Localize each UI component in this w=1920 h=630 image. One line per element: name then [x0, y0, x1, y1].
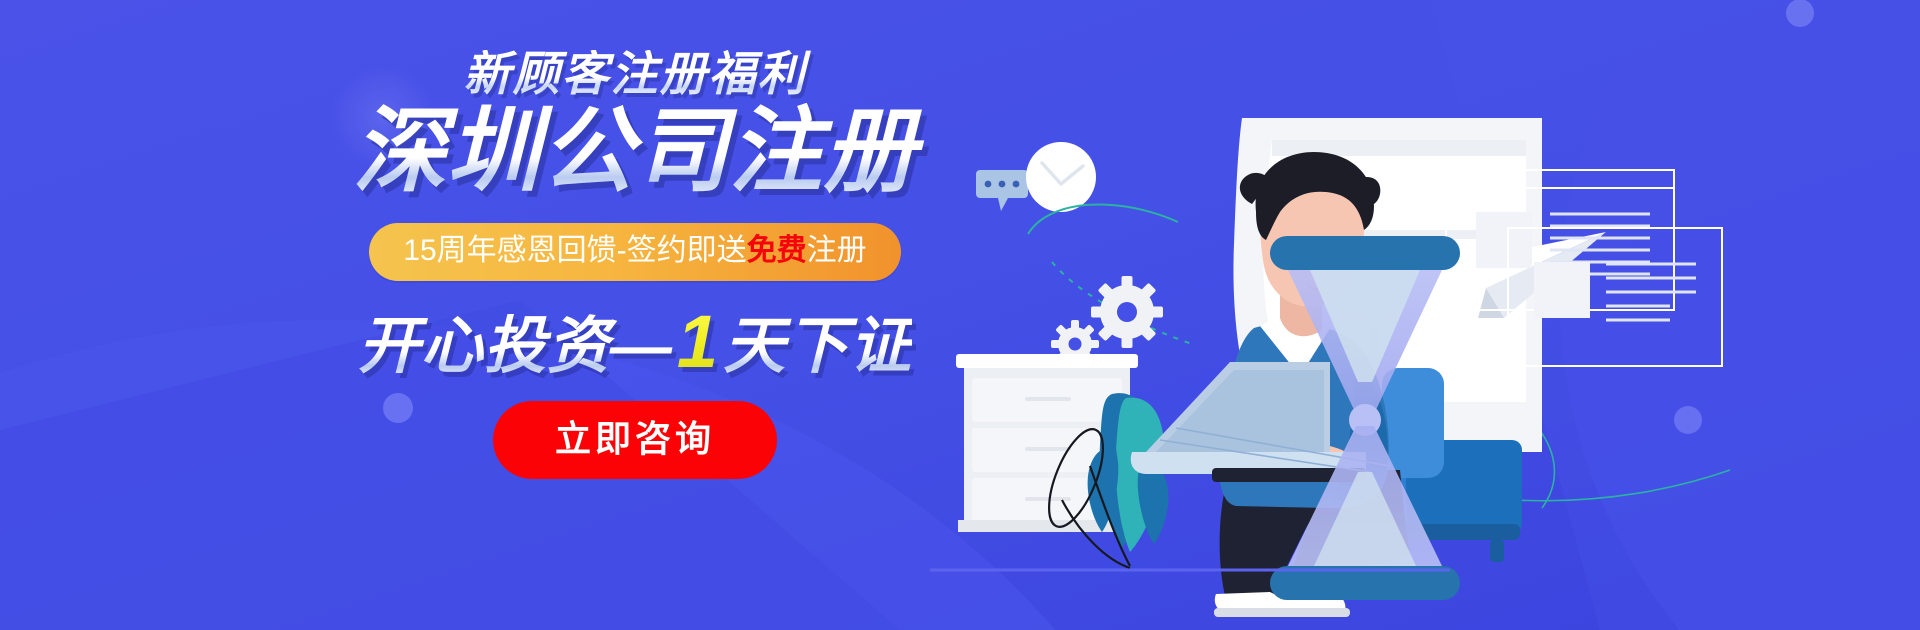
tagline-before: 开心投资— — [358, 312, 673, 381]
tagline: 开心投资—1天下证 — [330, 303, 940, 381]
consult-now-button[interactable]: 立即咨询 — [493, 401, 777, 479]
tagline-after: 天下证 — [723, 312, 912, 381]
offer-pill: 15周年感恩回馈-签约即送免费注册 — [369, 223, 900, 282]
kicker-text: 新顾客注册福利 — [330, 50, 940, 97]
offer-pill-highlight: 免费 — [747, 234, 807, 267]
promo-banner: 新顾客注册福利 深圳公司注册 15周年感恩回馈-签约即送免费注册 开心投资—1天… — [0, 0, 1920, 630]
copy-block: 新顾客注册福利 深圳公司注册 15周年感恩回馈-签约即送免费注册 开心投资—1天… — [330, 50, 940, 479]
clock-icon — [1026, 142, 1096, 212]
offer-pill-trail: 注册 — [807, 234, 867, 267]
page-title: 深圳公司注册 — [330, 103, 940, 201]
chat-bubble-icon — [976, 170, 1028, 211]
offer-pill-lead: 15周年感恩回馈-签约即送 — [403, 234, 746, 267]
tagline-number: 1 — [673, 300, 723, 383]
gear-large-icon — [1091, 276, 1163, 348]
illustration — [930, 0, 1920, 630]
illustration-svg — [930, 0, 1920, 630]
